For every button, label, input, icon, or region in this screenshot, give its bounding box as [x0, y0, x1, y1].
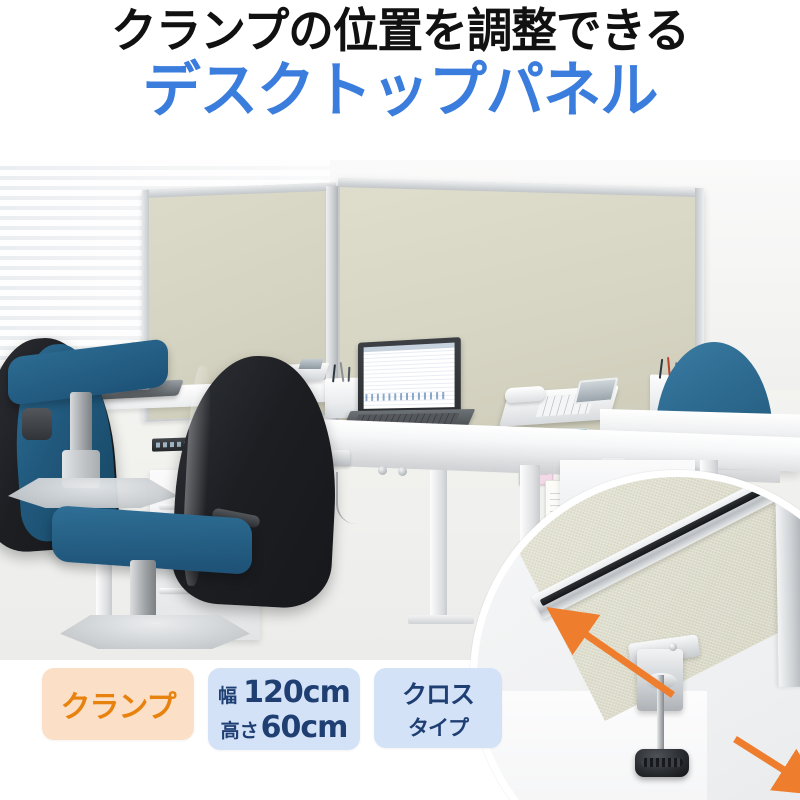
- laptop-lid: [358, 337, 461, 418]
- headline-line-1: クランプの位置を調整できる: [12, 8, 788, 55]
- badge-height-row: 高さ 60cm: [208, 710, 360, 745]
- clamp-knob: [635, 749, 689, 777]
- telephone-handset: [505, 386, 545, 404]
- spec-badges: クランプ 幅 120cm 高さ 60cm クロス タイプ: [42, 668, 502, 750]
- badge-fabric-line-1: クロス: [402, 675, 474, 711]
- desk-leg: [430, 470, 447, 620]
- headline-line-2: デスクトップパネル: [12, 60, 788, 123]
- panel-vertical-frame: [775, 477, 800, 687]
- badge-height-label: 高さ: [221, 716, 259, 743]
- chair-base-left: [8, 478, 178, 508]
- chair-base-center: [60, 615, 250, 649]
- badge-mounting-label: クランプ: [60, 682, 175, 726]
- badge-fabric-type: クロス タイプ: [374, 668, 502, 748]
- arrow-slide-right: [735, 739, 795, 777]
- clamp-screw: [398, 467, 407, 476]
- clamp-screw: [378, 466, 387, 475]
- headline-block: クランプの位置を調整できる デスクトップパネル: [0, 8, 800, 123]
- badge-width-value: 120cm: [243, 675, 350, 710]
- badge-width-row: 幅 120cm: [208, 675, 360, 710]
- badge-width-label: 幅: [218, 681, 237, 708]
- badge-height-value: 60cm: [261, 710, 348, 745]
- clamp-screw-rod: [657, 675, 664, 757]
- badge-fabric-line-2: タイプ: [408, 712, 468, 742]
- chair-adjust-knob: [22, 408, 52, 440]
- laptop-screen: [364, 343, 455, 409]
- telephone-display: [574, 377, 619, 404]
- product-banner: クランプの位置を調整できる デスクトップパネル: [0, 0, 800, 800]
- badge-mounting-type: クランプ: [42, 668, 194, 740]
- laptop-open: [346, 340, 464, 432]
- clamp-bolt: [669, 643, 677, 651]
- badge-dimensions: 幅 120cm 高さ 60cm: [208, 668, 360, 750]
- clamp-closeup-inset: [470, 470, 800, 800]
- desk-foot: [408, 615, 474, 624]
- telephone-front: [505, 375, 615, 427]
- chair-gas-lift: [70, 392, 92, 458]
